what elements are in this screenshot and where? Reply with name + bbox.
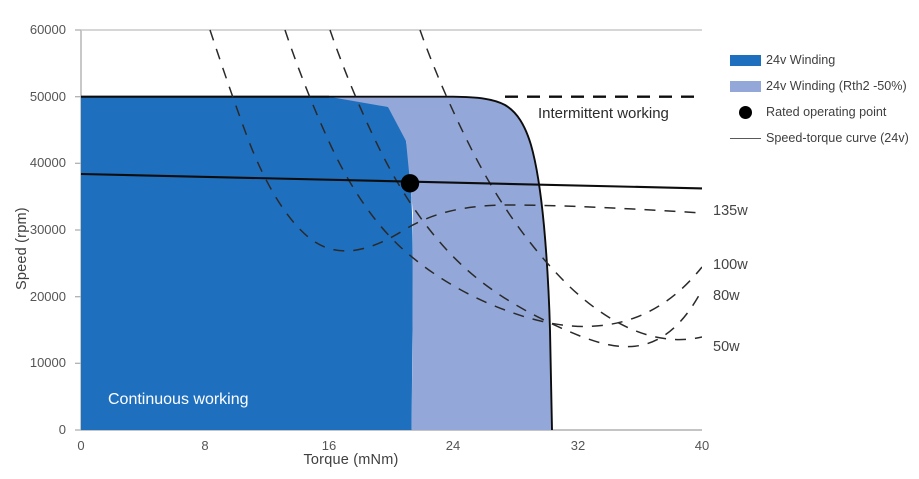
x-tick-label-16: 16 [299,438,359,453]
legend-label-rated-operating-point: Rated operating point [763,105,886,119]
legend-label-24v-winding: 24v Winding [763,53,835,67]
chart-legend: 24v Winding 24v Winding (Rth2 -50%) Rate… [727,47,917,151]
y-tick-label-50000: 50000 [8,89,66,104]
power-curve-label-100w: 100w [713,257,748,273]
power-curve-label-80w: 80w [713,288,740,304]
y-tick-label-10000: 10000 [8,355,66,370]
legend-swatch-icon [727,78,763,94]
x-axis-title: Torque (mNm) [0,452,702,468]
y-tick-label-40000: 40000 [8,155,66,170]
legend-item-24v-winding[interactable]: 24v Winding [727,47,917,73]
x-tick-label-32: 32 [548,438,608,453]
y-tick-label-60000: 60000 [8,22,66,37]
region-24v-winding [81,97,413,430]
motor-performance-chart: Torque (mNm) Speed (rpm) 60000 50000 400… [0,0,919,479]
legend-line-icon [727,130,763,146]
y-tick-label-0: 0 [8,422,66,437]
legend-dot-icon [727,104,763,120]
legend-item-rated-operating-point[interactable]: Rated operating point [727,99,917,125]
annotation-intermittent-working: Intermittent working [538,105,669,122]
rated-operating-point-marker [401,174,419,192]
y-axis-title: Speed (rpm) [14,207,30,290]
legend-label-speed-torque-curve: Speed-torque curve (24v) [763,131,909,145]
annotation-continuous-working: Continuous working [108,391,249,409]
legend-swatch-icon [727,52,763,68]
x-tick-label-40: 40 [672,438,732,453]
x-tick-label-24: 24 [423,438,483,453]
legend-label-24v-winding-rth2: 24v Winding (Rth2 -50%) [763,79,907,93]
x-tick-label-0: 0 [51,438,111,453]
y-tick-marks [75,30,81,430]
power-curve-label-50w: 50w [713,339,740,355]
x-tick-label-8: 8 [175,438,235,453]
legend-item-24v-winding-rth2[interactable]: 24v Winding (Rth2 -50%) [727,73,917,99]
y-tick-label-20000: 20000 [8,289,66,304]
legend-item-speed-torque-curve[interactable]: Speed-torque curve (24v) [727,125,917,151]
power-curve-label-135w: 135w [713,203,748,219]
y-tick-label-30000: 30000 [8,222,66,237]
